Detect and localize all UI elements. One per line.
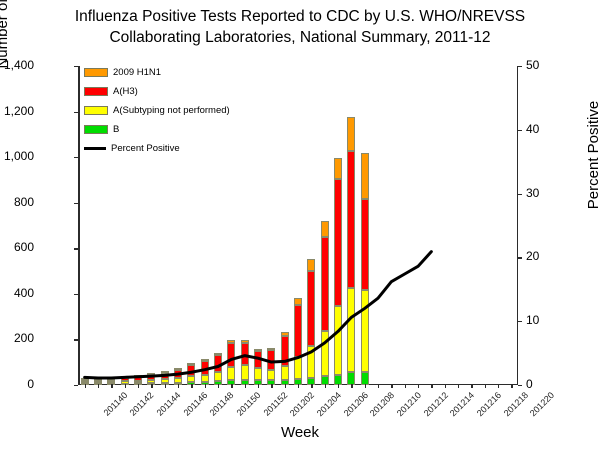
x-tick-label-201202: 201202 (288, 390, 316, 418)
x-tick (311, 384, 312, 388)
x-tick (485, 384, 486, 388)
x-tick (391, 384, 392, 388)
y-axis-title-left: Number of Positive Specimens (0, 0, 11, 96)
legend-item-2009-h1n1: 2009 H1N1 (84, 63, 230, 82)
x-tick (98, 384, 99, 388)
right-tick-label: 50 (526, 58, 539, 72)
right-tick-label: 20 (526, 249, 539, 263)
x-tick (178, 384, 179, 388)
right-tick (518, 321, 522, 322)
x-tick (218, 384, 219, 388)
x-tick (338, 384, 339, 388)
right-tick (518, 385, 522, 386)
right-tick-label: 10 (526, 313, 539, 327)
left-tick-label: 200 (14, 331, 34, 345)
x-tick (378, 384, 379, 388)
x-tick (445, 384, 446, 388)
x-tick-label-201216: 201216 (475, 390, 503, 418)
left-tick-label: 1,000 (4, 149, 34, 163)
x-tick (351, 384, 352, 388)
chart-legend: 2009 H1N1A(H3)A(Subtyping not performed)… (84, 63, 230, 158)
right-tick (518, 66, 522, 67)
chart-title-line-1: Influenza Positive Tests Reported to CDC… (0, 6, 600, 27)
legend-item-b: B (84, 120, 230, 139)
left-tick (74, 385, 78, 386)
x-tick (165, 384, 166, 388)
left-tick (74, 112, 78, 113)
legend-item-percent-positive: Percent Positive (84, 139, 230, 158)
x-tick (285, 384, 286, 388)
left-tick (74, 248, 78, 249)
x-tick-label-201142: 201142 (128, 390, 156, 418)
legend-label: A(H3) (113, 86, 138, 97)
legend-label: 2009 H1N1 (113, 67, 161, 78)
left-tick-label: 400 (14, 286, 34, 300)
right-tick (518, 257, 522, 258)
x-tick (471, 384, 472, 388)
left-tick (74, 157, 78, 158)
x-tick-label-201144: 201144 (155, 390, 183, 418)
x-tick (271, 384, 272, 388)
right-tick (518, 194, 522, 195)
chart-title-line-2: Collaborating Laboratories, National Sum… (0, 27, 600, 48)
x-tick (431, 384, 432, 388)
y-axis-title-right: Percent Positive (585, 55, 600, 255)
x-tick (365, 384, 366, 388)
legend-item-a-subtyping-not-performed-: A(Subtyping not performed) (84, 101, 230, 120)
x-tick (125, 384, 126, 388)
legend-label: B (113, 124, 119, 135)
x-tick-label-201150: 201150 (235, 390, 263, 418)
legend-swatch-icon (84, 125, 108, 134)
x-tick (85, 384, 86, 388)
legend-swatch-icon (84, 68, 108, 77)
x-tick-label-201204: 201204 (315, 390, 343, 418)
x-tick-label-201148: 201148 (208, 390, 236, 418)
x-tick (231, 384, 232, 388)
x-tick (498, 384, 499, 388)
left-tick (74, 66, 78, 67)
x-tick (111, 384, 112, 388)
x-tick-label-201210: 201210 (395, 390, 423, 418)
x-tick (205, 384, 206, 388)
x-tick (298, 384, 299, 388)
chart-title: Influenza Positive Tests Reported to CDC… (0, 6, 600, 48)
x-tick (191, 384, 192, 388)
left-tick (74, 294, 78, 295)
x-tick (325, 384, 326, 388)
left-tick-label: 0 (27, 377, 34, 391)
legend-swatch-icon (84, 106, 108, 115)
x-tick-label-201140: 201140 (101, 390, 129, 418)
legend-label: Percent Positive (111, 143, 180, 154)
left-tick (74, 339, 78, 340)
x-tick (405, 384, 406, 388)
x-tick-label-201206: 201206 (341, 390, 369, 418)
legend-swatch-icon (84, 147, 106, 150)
right-tick-label: 30 (526, 186, 539, 200)
right-tick (518, 130, 522, 131)
left-tick (74, 203, 78, 204)
x-tick (458, 384, 459, 388)
left-tick-label: 1,200 (4, 104, 34, 118)
chart-page: Influenza Positive Tests Reported to CDC… (0, 0, 600, 450)
x-tick (151, 384, 152, 388)
legend-item-a-h3-: A(H3) (84, 82, 230, 101)
x-tick (258, 384, 259, 388)
left-tick-label: 600 (14, 240, 34, 254)
right-tick-label: 0 (526, 377, 533, 391)
x-tick (245, 384, 246, 388)
x-tick-label-201146: 201146 (181, 390, 209, 418)
x-axis-title: Week (0, 424, 600, 441)
legend-label: A(Subtyping not performed) (113, 105, 230, 116)
x-tick-label-201212: 201212 (421, 390, 449, 418)
x-tick-label-201218: 201218 (501, 390, 529, 418)
x-tick (418, 384, 419, 388)
x-tick-label-201152: 201152 (261, 390, 289, 418)
left-tick-label: 800 (14, 195, 34, 209)
x-tick (138, 384, 139, 388)
x-tick-label-201214: 201214 (448, 390, 476, 418)
legend-swatch-icon (84, 87, 108, 96)
x-tick-label-201208: 201208 (368, 390, 396, 418)
left-tick-label: 1,400 (4, 58, 34, 72)
right-tick-label: 40 (526, 122, 539, 136)
x-tick (511, 384, 512, 388)
x-tick-label-201220: 201220 (528, 390, 556, 418)
